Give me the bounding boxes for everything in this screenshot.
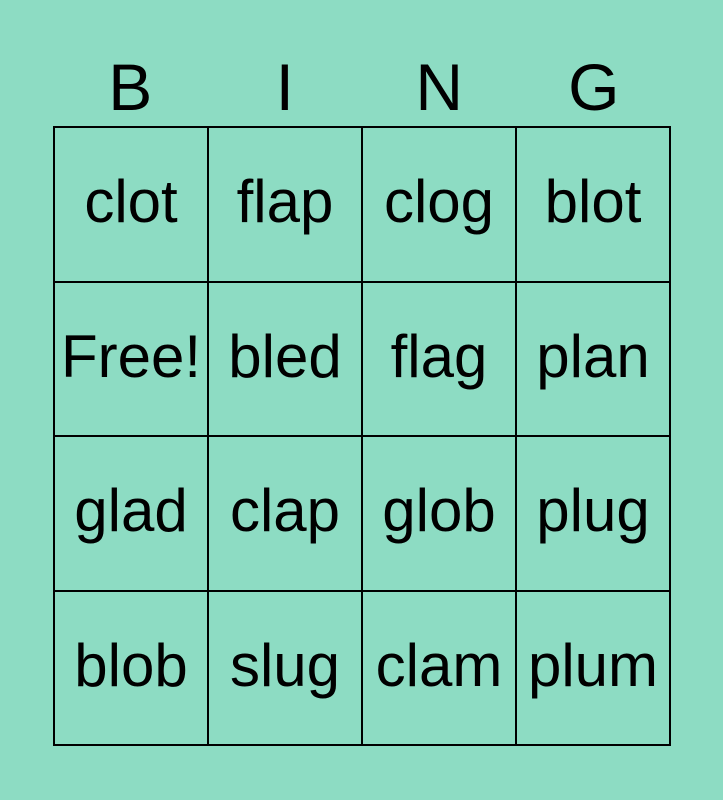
bingo-cell[interactable]: flap bbox=[209, 128, 363, 283]
bingo-cell-label: slug bbox=[230, 636, 340, 696]
bingo-cell[interactable]: glob bbox=[363, 437, 517, 592]
bingo-cell-label: clap bbox=[230, 481, 340, 541]
bingo-grid: clot flap clog blot Free! bled flag plan… bbox=[53, 126, 671, 746]
bingo-cell-label: glad bbox=[74, 481, 187, 541]
header-letter-i: I bbox=[208, 40, 363, 120]
bingo-cell-label: plug bbox=[536, 481, 649, 541]
bingo-cell[interactable]: blob bbox=[55, 592, 209, 747]
bingo-cell[interactable]: clog bbox=[363, 128, 517, 283]
bingo-cell[interactable]: clap bbox=[209, 437, 363, 592]
bingo-card: B I N G clot flap clog blot Free! bled f… bbox=[0, 0, 723, 800]
bingo-cell-label: bled bbox=[228, 327, 341, 387]
header-letter-g: G bbox=[517, 40, 672, 120]
bingo-cell-free[interactable]: Free! bbox=[55, 283, 209, 438]
bingo-cell[interactable]: clot bbox=[55, 128, 209, 283]
bingo-cell[interactable]: bled bbox=[209, 283, 363, 438]
header-letter-b: B bbox=[53, 40, 208, 120]
bingo-cell[interactable]: clam bbox=[363, 592, 517, 747]
bingo-cell-label: Free! bbox=[61, 327, 201, 387]
bingo-cell-label: plan bbox=[536, 327, 649, 387]
bingo-cell[interactable]: flag bbox=[363, 283, 517, 438]
bingo-cell-label: clog bbox=[384, 172, 494, 232]
bingo-cell[interactable]: glad bbox=[55, 437, 209, 592]
bingo-cell-label: blot bbox=[545, 172, 642, 232]
bingo-cell[interactable]: slug bbox=[209, 592, 363, 747]
bingo-cell[interactable]: blot bbox=[517, 128, 671, 283]
bingo-cell-label: flap bbox=[237, 172, 334, 232]
bingo-cell-label: clam bbox=[376, 636, 503, 696]
bingo-header-row: B I N G bbox=[53, 40, 671, 120]
bingo-cell-label: plum bbox=[528, 636, 658, 696]
bingo-cell[interactable]: plug bbox=[517, 437, 671, 592]
bingo-cell-label: glob bbox=[382, 481, 495, 541]
header-letter-n: N bbox=[362, 40, 517, 120]
bingo-cell-label: blob bbox=[74, 636, 187, 696]
bingo-cell[interactable]: plum bbox=[517, 592, 671, 747]
bingo-cell-label: clot bbox=[84, 172, 177, 232]
bingo-cell-label: flag bbox=[391, 327, 488, 387]
bingo-cell[interactable]: plan bbox=[517, 283, 671, 438]
